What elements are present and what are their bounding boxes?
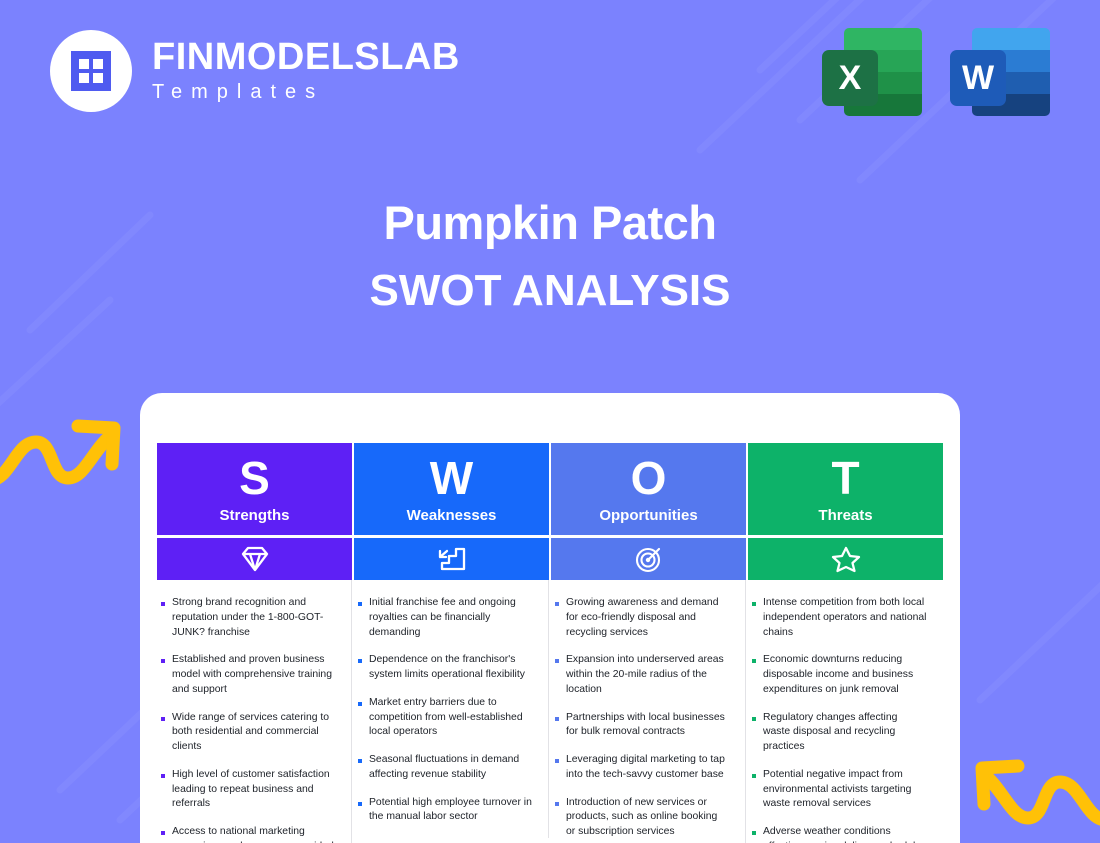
brand-logo: FINMODELSLAB Templates bbox=[50, 30, 460, 112]
office-format-icons: X W bbox=[822, 28, 1050, 120]
list-item: Initial franchise fee and ongoing royalt… bbox=[358, 596, 532, 640]
logo-subtitle: Templates bbox=[152, 81, 460, 104]
column-icon-row-strengths bbox=[157, 538, 352, 580]
column-label: Weaknesses bbox=[407, 507, 497, 524]
list-item: Partnerships with local businesses for b… bbox=[555, 711, 729, 741]
list-item: Potential high employee turnover in the … bbox=[358, 796, 532, 826]
logo-name: FINMODELSLAB bbox=[152, 38, 460, 78]
page-title: Pumpkin Patch bbox=[0, 196, 1100, 250]
list-item: Introduction of new services or products… bbox=[555, 796, 729, 840]
column-label: Opportunities bbox=[599, 507, 697, 524]
column-header-weaknesses: W Weaknesses bbox=[354, 443, 549, 535]
squiggly-arrow-down-left-icon bbox=[968, 742, 1100, 837]
column-letter: T bbox=[831, 455, 859, 501]
list-item: Access to national marketing campaigns a… bbox=[161, 825, 335, 843]
bullet-marker bbox=[358, 802, 362, 806]
column-label: Threats bbox=[818, 507, 872, 524]
column-header-opportunities: O Opportunities bbox=[551, 443, 746, 535]
column-header-strengths: S Strengths bbox=[157, 443, 352, 535]
list-item: Expansion into underserved areas within … bbox=[555, 653, 729, 697]
list-item: Seasonal fluctuations in demand affectin… bbox=[358, 753, 532, 783]
bullet-marker bbox=[752, 831, 756, 835]
word-icon: W bbox=[950, 28, 1050, 120]
bullet-list-opportunities: Growing awareness and demand for eco-fri… bbox=[551, 580, 746, 843]
bullet-marker bbox=[555, 759, 559, 763]
page-title-block: Pumpkin Patch SWOT ANALYSIS bbox=[0, 196, 1100, 316]
bullet-list-threats: Intense competition from both local inde… bbox=[748, 580, 943, 843]
swot-column-opportunities: O Opportunities Growing awareness and de… bbox=[551, 443, 746, 843]
bullet-marker bbox=[752, 717, 756, 721]
list-item: Leveraging digital marketing to tap into… bbox=[555, 753, 729, 783]
swot-column-weaknesses: W Weaknesses Initial franchise fee and o… bbox=[354, 443, 549, 843]
bullet-marker bbox=[161, 831, 165, 835]
swot-grid: S Strengths Strong brand recognition and… bbox=[157, 443, 943, 843]
bullet-marker bbox=[555, 717, 559, 721]
diamond-icon bbox=[240, 546, 270, 572]
bullet-marker bbox=[555, 802, 559, 806]
bullet-marker bbox=[752, 602, 756, 606]
word-icon-letter: W bbox=[950, 50, 1006, 106]
bullet-list-strengths: Strong brand recognition and reputation … bbox=[157, 580, 352, 843]
excel-icon: X bbox=[822, 28, 922, 120]
bullet-marker bbox=[161, 717, 165, 721]
list-item: Intense competition from both local inde… bbox=[752, 596, 927, 640]
grid-logo-icon bbox=[71, 51, 111, 91]
column-label: Strengths bbox=[219, 507, 289, 524]
list-item: Established and proven business model wi… bbox=[161, 653, 335, 697]
bullet-marker bbox=[752, 774, 756, 778]
bullet-marker bbox=[358, 759, 362, 763]
star-icon bbox=[831, 545, 861, 573]
list-item: Dependence on the franchisor's system li… bbox=[358, 653, 532, 683]
bullet-marker bbox=[358, 659, 362, 663]
bullet-marker bbox=[161, 774, 165, 778]
descending-stairs-icon bbox=[437, 546, 467, 572]
target-icon bbox=[634, 545, 664, 573]
list-item: Regulatory changes affecting waste dispo… bbox=[752, 711, 927, 755]
bullet-marker bbox=[555, 602, 559, 606]
bullet-list-weaknesses: Initial franchise fee and ongoing royalt… bbox=[354, 580, 549, 838]
list-item: Growing awareness and demand for eco-fri… bbox=[555, 596, 729, 640]
swot-column-threats: T Threats Intense competition from both … bbox=[748, 443, 943, 843]
list-item: Adverse weather conditions affecting ser… bbox=[752, 825, 927, 843]
bullet-marker bbox=[358, 702, 362, 706]
list-item: Potential negative impact from environme… bbox=[752, 768, 927, 812]
list-item: Market entry barriers due to competition… bbox=[358, 696, 532, 740]
bullet-marker bbox=[555, 659, 559, 663]
column-icon-row-weaknesses bbox=[354, 538, 549, 580]
list-item: Wide range of services catering to both … bbox=[161, 711, 335, 755]
excel-icon-letter: X bbox=[822, 50, 878, 106]
bullet-marker bbox=[358, 602, 362, 606]
column-letter: W bbox=[430, 455, 473, 501]
column-letter: S bbox=[239, 455, 270, 501]
list-item: Strong brand recognition and reputation … bbox=[161, 596, 335, 640]
bullet-marker bbox=[161, 659, 165, 663]
swot-card: S Strengths Strong brand recognition and… bbox=[140, 393, 960, 843]
column-letter: O bbox=[631, 455, 667, 501]
column-icon-row-opportunities bbox=[551, 538, 746, 580]
logo-circle bbox=[50, 30, 132, 112]
swot-column-strengths: S Strengths Strong brand recognition and… bbox=[157, 443, 352, 843]
swot-infographic-page: FINMODELSLAB Templates X W Pumpki bbox=[0, 0, 1100, 843]
column-header-threats: T Threats bbox=[748, 443, 943, 535]
column-icon-row-threats bbox=[748, 538, 943, 580]
bullet-marker bbox=[752, 659, 756, 663]
list-item: High level of customer satisfaction lead… bbox=[161, 768, 335, 812]
squiggly-arrow-up-right-icon bbox=[0, 402, 128, 497]
bullet-marker bbox=[161, 602, 165, 606]
list-item: Economic downturns reducing disposable i… bbox=[752, 653, 927, 697]
page-subtitle: SWOT ANALYSIS bbox=[0, 266, 1100, 316]
